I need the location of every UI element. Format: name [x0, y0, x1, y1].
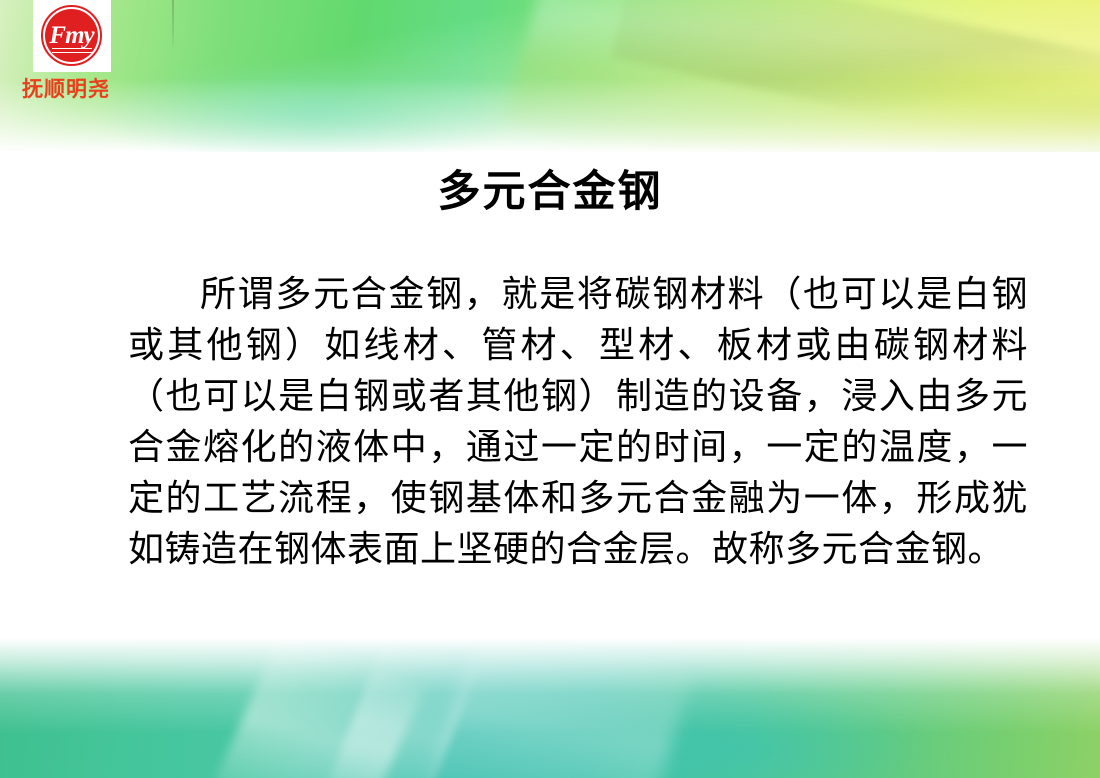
slide-body-paragraph: 所谓多元合金钢，就是将碳钢材料（也可以是白钢或其他钢）如线材、管材、型材、板材或… — [128, 268, 1028, 574]
slide-content: 多元合金钢 所谓多元合金钢，就是将碳钢材料（也可以是白钢或其他钢）如线材、管材、… — [0, 0, 1100, 778]
company-logo: Fmy 抚顺明尧 — [33, 0, 111, 101]
company-logo-icon: Fmy — [33, 0, 111, 72]
logo-underline — [52, 48, 92, 53]
logo-monogram: Fmy — [45, 9, 98, 62]
logo-caption: 抚顺明尧 — [14, 78, 118, 101]
slide-canvas: Fmy 抚顺明尧 多元合金钢 所谓多元合金钢，就是将碳钢材料（也可以是白钢或其他… — [0, 0, 1100, 778]
slide-title: 多元合金钢 — [0, 168, 1100, 217]
